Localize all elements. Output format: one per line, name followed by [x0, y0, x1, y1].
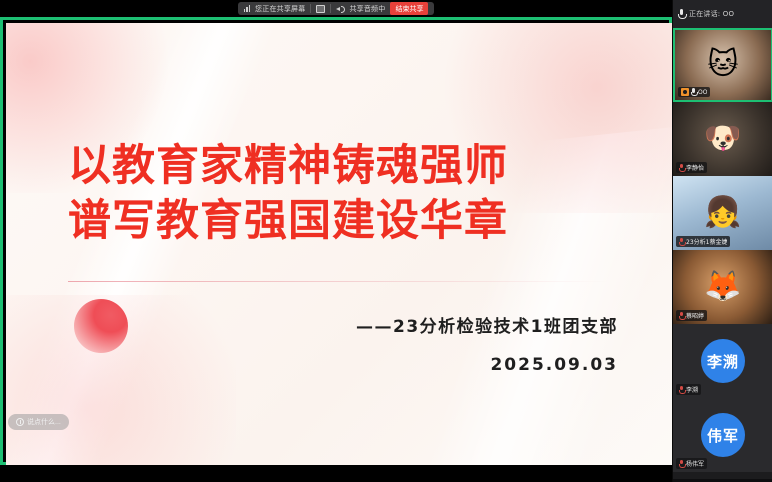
participant-name-chip: 李溯: [676, 384, 701, 395]
microphone-muted-icon: [679, 386, 684, 394]
share-status-text: 您正在共享屏幕: [255, 4, 305, 14]
participant-name-chip: 蔡昭婷: [676, 310, 707, 321]
participant-tile[interactable]: 🐱OO: [673, 28, 772, 102]
participant-name-chip: 23分析1蔡金婕: [676, 236, 730, 247]
toolbar-divider: [310, 4, 311, 13]
participant-tile[interactable]: 李溯李溯: [673, 324, 772, 398]
microphone-muted-icon: [679, 312, 684, 320]
participant-tile[interactable]: 🐶李静怡: [673, 102, 772, 176]
share-audio-group[interactable]: 共享音频中: [336, 4, 385, 14]
stage-bottom-bar: [0, 465, 672, 482]
microphone-muted-icon: [679, 164, 684, 172]
participants-rail: 正在讲话: OO 🐱OO🐶李静怡👧23分析1蔡金婕🦊蔡昭婷李溯李溯伟军杨伟军: [672, 0, 772, 482]
participant-tile[interactable]: 伟军杨伟军: [673, 398, 772, 472]
avatar: 伟军: [701, 413, 745, 457]
slide-title-line-1: 以教育家精神铸魂强师: [68, 139, 508, 194]
participant-name: 李静怡: [686, 163, 704, 172]
participant-name-chip: 杨伟军: [676, 458, 707, 469]
slide-subtitle: ——23分析检验技术1班团支部: [356, 319, 618, 336]
active-speaker-text: 正在讲话: OO: [689, 9, 734, 19]
speaker-icon: [336, 5, 345, 13]
microphone-muted-icon: [679, 460, 684, 468]
share-toolbar-pill: 您正在共享屏幕 共享音频中 结束共享: [238, 2, 435, 15]
participant-name: 蔡昭婷: [686, 311, 704, 320]
slide-title-line-2: 谱写教育强国建设华章: [68, 194, 508, 249]
participant-name-chip: OO: [678, 87, 710, 97]
microphone-muted-icon: [679, 238, 684, 246]
share-toolbar: 您正在共享屏幕 共享音频中 结束共享: [0, 0, 672, 17]
slide-date: 2025.09.03: [356, 355, 618, 375]
shared-screen-stage: 以教育家精神铸魂强师 谱写教育强国建设华章 ——23分析检验技术1班团支部 20…: [0, 17, 672, 482]
participant-name: 23分析1蔡金婕: [686, 237, 727, 246]
participant-tile[interactable]: 👧23分析1蔡金婕: [673, 176, 772, 250]
monitor-icon[interactable]: [316, 5, 325, 13]
share-audio-text: 共享音频中: [349, 4, 385, 14]
participant-tiles: 🐱OO🐶李静怡👧23分析1蔡金婕🦊蔡昭婷李溯李溯伟军杨伟军: [673, 28, 772, 479]
host-badge-icon: [681, 88, 689, 96]
slide-title: 以教育家精神铸魂强师 谱写教育强国建设华章: [68, 139, 508, 249]
say-something-button[interactable]: 说点什么...: [8, 414, 69, 430]
meeting-screen-share-window: 您正在共享屏幕 共享音频中 结束共享 以教育家精神铸魂强师: [0, 0, 772, 482]
participant-tile[interactable]: 🦊蔡昭婷: [673, 250, 772, 324]
slide-subtitle-block: ——23分析检验技术1班团支部 2025.09.03: [356, 319, 618, 375]
end-share-button[interactable]: 结束共享: [390, 2, 428, 15]
say-something-label: 说点什么...: [27, 417, 61, 427]
participant-name: 杨伟军: [686, 459, 704, 468]
info-circle-icon: [16, 418, 24, 426]
toolbar-divider-2: [330, 4, 331, 13]
presentation-slide: 以教育家精神铸魂强师 谱写教育强国建设华章 ——23分析检验技术1班团支部 20…: [6, 23, 672, 465]
avatar: 李溯: [701, 339, 745, 383]
participant-name: OO: [698, 89, 707, 96]
participant-name-chip: 李静怡: [676, 162, 707, 173]
active-speaker-bar: 正在讲话: OO: [673, 0, 772, 28]
participant-name: 李溯: [686, 385, 698, 394]
signal-bars-icon: [244, 5, 251, 12]
screen-share-highlight-frame: 以教育家精神铸魂强师 谱写教育强国建设华章 ——23分析检验技术1班团支部 20…: [0, 17, 672, 465]
microphone-icon: [678, 9, 685, 20]
slide-divider-line: [68, 281, 608, 282]
microphone-icon: [691, 88, 696, 96]
slide-red-circle-decoration: [74, 299, 128, 353]
